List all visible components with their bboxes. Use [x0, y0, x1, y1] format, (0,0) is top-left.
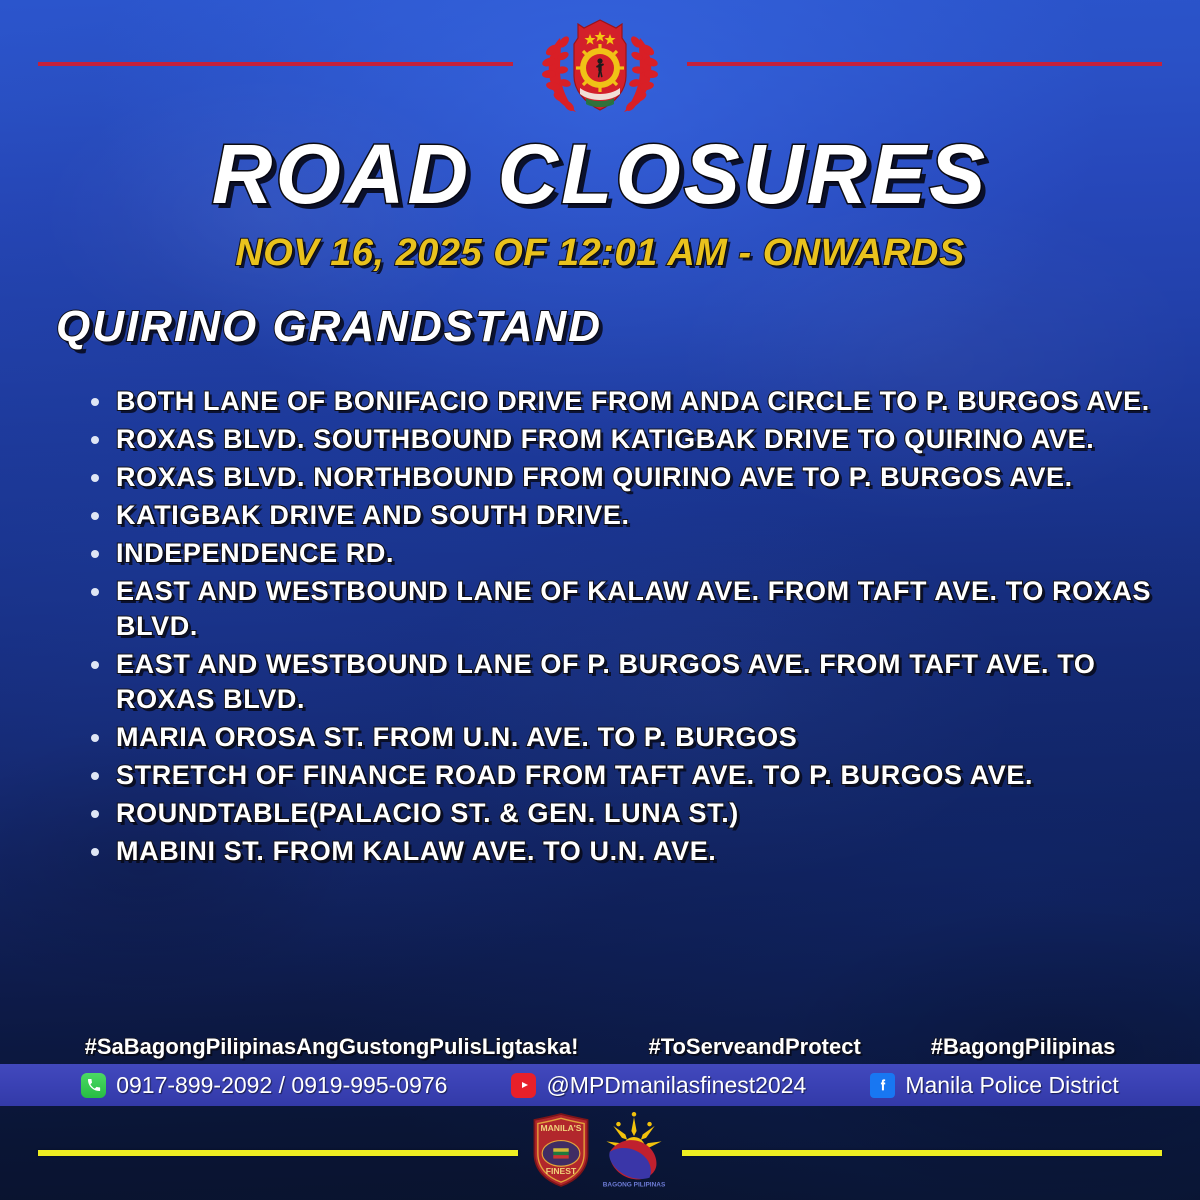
contact-bar: 0917-899-2092 / 0919-995-0976@MPDmanilas…: [0, 1064, 1200, 1106]
closure-item-label: KATIGBAK DRIVE AND SOUTH DRIVE.: [116, 500, 630, 530]
closure-item-label: MABINI ST. FROM KALAW AVE. TO U.N. AVE.: [116, 836, 716, 866]
closure-list: BOTH LANE OF BONIFACIO DRIVE FROM ANDA C…: [88, 384, 1158, 872]
closure-item-label: ROXAS BLVD. NORTHBOUND FROM QUIRINO AVE …: [116, 462, 1073, 492]
closure-item: ROUNDTABLE(PALACIO ST. & GEN. LUNA ST.): [88, 796, 1158, 831]
svg-text:BAGONG PILIPINAS: BAGONG PILIPINAS: [603, 1181, 666, 1188]
contact-label: Manila Police District: [905, 1072, 1118, 1099]
contact-item[interactable]: 0917-899-2092 / 0919-995-0976: [81, 1072, 447, 1099]
bullet-icon: [91, 512, 99, 520]
effectivity-subtitle: NOV 16, 2025 OF 12:01 AM - ONWARDS: [0, 232, 1200, 275]
youtube-icon: [511, 1073, 536, 1098]
svg-text:FINEST: FINEST: [546, 1166, 577, 1176]
bullet-icon: [91, 588, 99, 596]
manilas-finest-logo: MANILA'S FINEST: [531, 1112, 591, 1193]
bullet-icon: [91, 474, 99, 482]
closure-item-label: EAST AND WESTBOUND LANE OF P. BURGOS AVE…: [116, 649, 1095, 714]
hashtag-row: #SaBagongPilipinasAngGustongPulisLigtask…: [0, 1034, 1200, 1060]
footer-rule-right: [682, 1150, 1162, 1156]
section-title: QUIRINO GRANDSTAND: [56, 302, 602, 352]
bagong-pilipinas-logo: BAGONG PILIPINAS: [599, 1112, 669, 1193]
closure-item-label: STRETCH OF FINANCE ROAD FROM TAFT AVE. T…: [116, 760, 1033, 790]
closure-item-label: EAST AND WESTBOUND LANE OF KALAW AVE. FR…: [116, 576, 1151, 641]
closure-item-label: ROXAS BLVD. SOUTHBOUND FROM KATIGBAK DRI…: [116, 424, 1094, 454]
closure-item: EAST AND WESTBOUND LANE OF KALAW AVE. FR…: [88, 574, 1158, 644]
contact-label: 0917-899-2092 / 0919-995-0976: [116, 1072, 447, 1099]
facebook-icon: [870, 1073, 895, 1098]
phone-icon: [81, 1073, 106, 1098]
contact-label: @MPDmanilasfinest2024: [546, 1072, 806, 1099]
page-title: ROAD CLOSURES: [0, 132, 1200, 216]
bullet-icon: [91, 550, 99, 558]
closure-item: INDEPENDENCE RD.: [88, 536, 1158, 571]
closure-item: BOTH LANE OF BONIFACIO DRIVE FROM ANDA C…: [88, 384, 1158, 419]
closure-item-label: INDEPENDENCE RD.: [116, 538, 394, 568]
contact-item[interactable]: Manila Police District: [870, 1072, 1118, 1099]
pnp-seal-icon: [530, 14, 670, 118]
bullet-icon: [91, 661, 99, 669]
top-rule-left: [38, 62, 513, 66]
footer-logo-group: MANILA'S FINEST: [531, 1112, 669, 1193]
closure-item: ROXAS BLVD. NORTHBOUND FROM QUIRINO AVE …: [88, 460, 1158, 495]
hashtag: #ToServeandProtect: [648, 1034, 860, 1060]
bullet-icon: [91, 734, 99, 742]
closure-item-label: BOTH LANE OF BONIFACIO DRIVE FROM ANDA C…: [116, 386, 1150, 416]
bullet-icon: [91, 398, 99, 406]
bullet-icon: [91, 848, 99, 856]
closure-item: EAST AND WESTBOUND LANE OF P. BURGOS AVE…: [88, 647, 1158, 717]
top-rule-right: [687, 62, 1162, 66]
closure-item: MARIA OROSA ST. FROM U.N. AVE. TO P. BUR…: [88, 720, 1158, 755]
closure-item: STRETCH OF FINANCE ROAD FROM TAFT AVE. T…: [88, 758, 1158, 793]
hashtag: #BagongPilipinas: [931, 1034, 1116, 1060]
hashtag: #SaBagongPilipinasAngGustongPulisLigtask…: [85, 1034, 579, 1060]
footer-rule-left: [38, 1150, 518, 1156]
closure-item-label: ROUNDTABLE(PALACIO ST. & GEN. LUNA ST.): [116, 798, 739, 828]
bullet-icon: [91, 436, 99, 444]
closure-item: KATIGBAK DRIVE AND SOUTH DRIVE.: [88, 498, 1158, 533]
closure-item: ROXAS BLVD. SOUTHBOUND FROM KATIGBAK DRI…: [88, 422, 1158, 457]
closure-item-label: MARIA OROSA ST. FROM U.N. AVE. TO P. BUR…: [116, 722, 797, 752]
closure-item: MABINI ST. FROM KALAW AVE. TO U.N. AVE.: [88, 834, 1158, 869]
bullet-icon: [91, 772, 99, 780]
svg-text:MANILA'S: MANILA'S: [540, 1123, 581, 1133]
road-closure-poster: ROAD CLOSURES NOV 16, 2025 OF 12:01 AM -…: [0, 0, 1200, 1200]
contact-item[interactable]: @MPDmanilasfinest2024: [511, 1072, 806, 1099]
bullet-icon: [91, 810, 99, 818]
